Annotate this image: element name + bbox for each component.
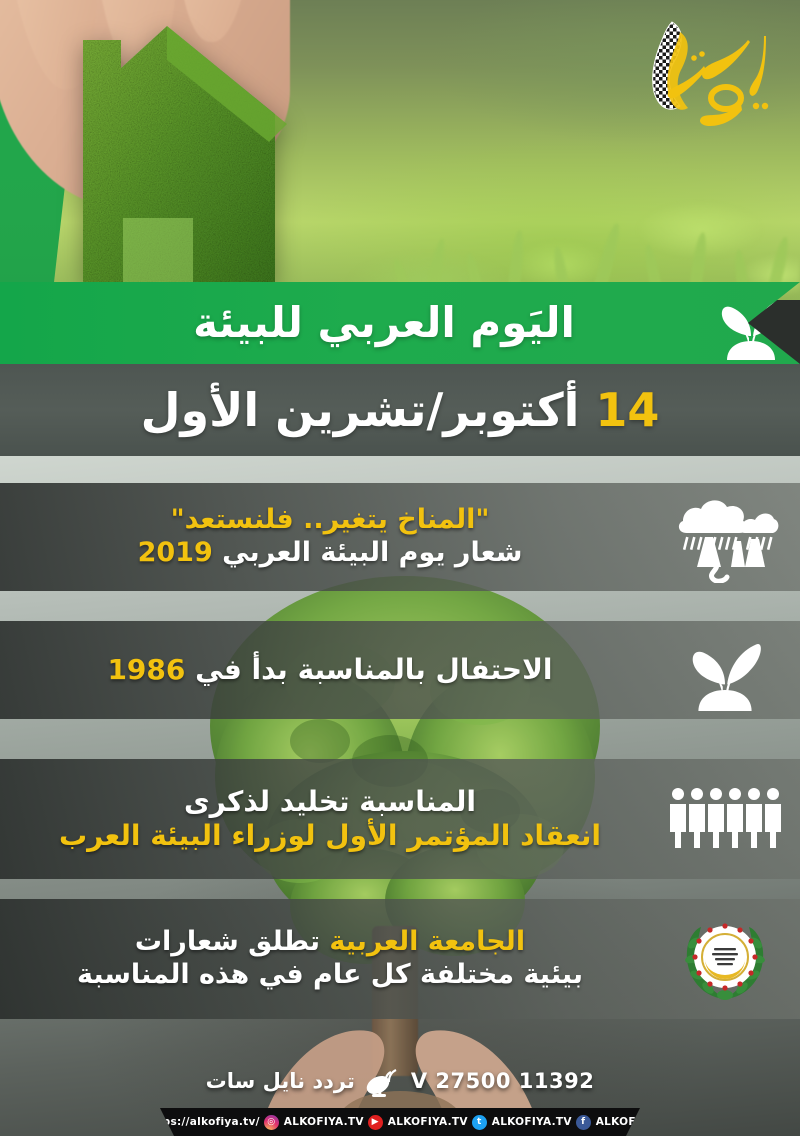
youtube-handle: ALKOFIYA.TV bbox=[388, 1116, 468, 1128]
row-2-text: الاحتفال بالمناسبة بدأ في 1986 bbox=[0, 653, 650, 687]
date-day: 14 bbox=[595, 383, 659, 437]
instagram-icon: ◎ bbox=[264, 1115, 279, 1130]
twitter-icon: t bbox=[472, 1115, 487, 1130]
frequency-label: تردد نايل سات bbox=[206, 1069, 355, 1093]
arab-league-name: الجامعة العربية bbox=[329, 926, 525, 957]
arab-league-emblem-icon bbox=[650, 899, 800, 1019]
slogan-caption-text: شعار يوم البيئة العربي bbox=[213, 537, 523, 568]
infographic-poster: اليَوم العربي للبيئة 14 أكتوبر/تشرين الأ… bbox=[0, 0, 800, 1136]
info-row-commemoration: المناسبة تخليد لذكرى انعقاد المؤتمر الأو… bbox=[0, 759, 800, 879]
slogan-year: 2019 bbox=[138, 537, 213, 568]
people-group-icon bbox=[650, 759, 800, 879]
commemoration-detail: انعقاد المؤتمر الأول لوزراء البيئة العرب bbox=[16, 819, 644, 853]
twitter-handle: ALKOFIYA.TV bbox=[492, 1116, 572, 1128]
date-band: 14 أكتوبر/تشرين الأول bbox=[0, 364, 800, 456]
slogan-quote: "المناخ يتغير.. فلنستعد" bbox=[16, 504, 644, 537]
sprout-icon bbox=[650, 621, 800, 719]
info-row-slogan: "المناخ يتغير.. فلنستعد" شعار يوم البيئة… bbox=[0, 483, 800, 591]
social-link-twitter[interactable]: t ALKOFIYA.TV bbox=[472, 1115, 572, 1130]
page-title: اليَوم العربي للبيئة bbox=[0, 302, 708, 344]
satellite-frequency: 11392 V 27500 تردد نايل سات bbox=[0, 1060, 800, 1102]
slogan-caption: شعار يوم البيئة العربي 2019 bbox=[16, 537, 644, 570]
arab-league-lead: الجامعة العربية تطلق شعارات bbox=[16, 926, 644, 959]
commemoration-lead: المناسبة تخليد لذكرى bbox=[16, 785, 644, 819]
arab-league-detail: بيئية مختلفة كل عام في هذه المناسبة bbox=[16, 959, 644, 992]
start-year-text: الاحتفال بالمناسبة بدأ في bbox=[185, 653, 552, 686]
row-3-text: المناسبة تخليد لذكرى انعقاد المؤتمر الأو… bbox=[0, 785, 650, 853]
instagram-handle: ALKOFIYA.TV bbox=[284, 1116, 364, 1128]
social-link-youtube[interactable]: ▶ ALKOFIYA.TV bbox=[368, 1115, 468, 1130]
channel-logo bbox=[638, 14, 778, 144]
info-row-arab-league: الجامعة العربية تطلق شعارات بيئية مختلفة… bbox=[0, 899, 800, 1019]
social-link-instagram[interactable]: ◎ ALKOFIYA.TV bbox=[264, 1115, 364, 1130]
date-month: أكتوبر/تشرين الأول bbox=[141, 383, 596, 437]
satellite-dish-icon bbox=[365, 1064, 401, 1098]
grass-house-icon bbox=[55, 18, 385, 300]
row-4-text: الجامعة العربية تطلق شعارات بيئية مختلفة… bbox=[0, 926, 650, 992]
row-1-text: "المناخ يتغير.. فلنستعد" شعار يوم البيئة… bbox=[0, 504, 650, 570]
arab-league-lead-rest: تطلق شعارات bbox=[135, 926, 329, 957]
trees-rain-icon bbox=[650, 483, 800, 591]
social-links-bar: f ALKOFIYA.TV t ALKOFIYA.TV ▶ ALKOFIYA.T… bbox=[160, 1108, 640, 1136]
event-date: 14 أكتوبر/تشرين الأول bbox=[141, 387, 660, 433]
facebook-icon: f bbox=[576, 1115, 591, 1130]
youtube-icon: ▶ bbox=[368, 1115, 383, 1130]
info-row-start-year: الاحتفال بالمناسبة بدأ في 1986 bbox=[0, 621, 800, 719]
top-photo-grass-house bbox=[0, 0, 800, 300]
title-band: اليَوم العربي للبيئة bbox=[0, 282, 800, 364]
start-year-caption: الاحتفال بالمناسبة بدأ في 1986 bbox=[16, 653, 644, 687]
frequency-value: 11392 V 27500 bbox=[411, 1069, 595, 1093]
start-year-value: 1986 bbox=[107, 653, 185, 686]
